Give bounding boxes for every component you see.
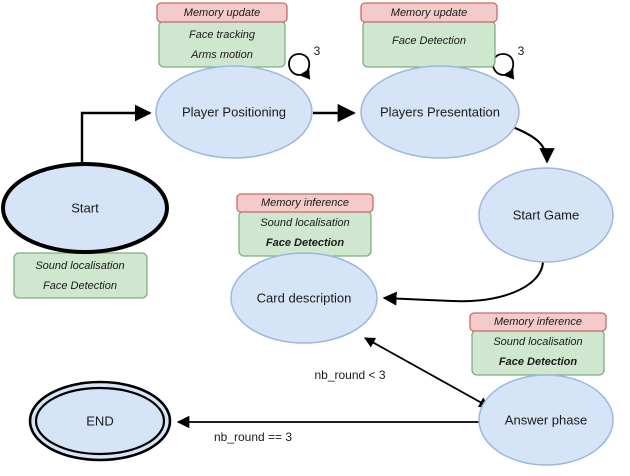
- state-machine-diagram: Memory update Face tracking Arms motion …: [0, 0, 630, 476]
- edge-label-nb-round-lt-3: nb_round < 3: [314, 368, 385, 382]
- self-loop-count-players-presentation: 3: [518, 44, 525, 58]
- labels-layer: 3 3 nb_round < 3 nb_round == 3: [0, 0, 630, 476]
- edge-label-nb-round-eq-3: nb_round == 3: [214, 430, 292, 444]
- self-loop-count-player-positioning: 3: [314, 44, 321, 58]
